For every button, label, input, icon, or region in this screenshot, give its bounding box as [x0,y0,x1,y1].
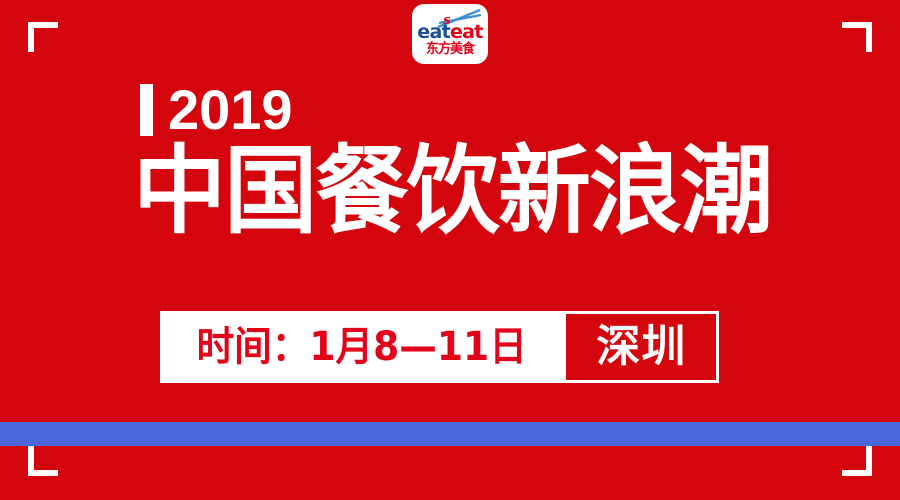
brand-logo: eateat s 东方美食 [412,4,488,64]
headline-title: 中国餐饮新浪潮 [133,143,771,239]
city-panel: 深圳 [563,311,719,383]
city-label: 深圳 [596,325,686,369]
promo-banner: eateat s 东方美食 2019 中国餐饮新浪潮 时间：1月8—11日 深圳 [0,0,900,500]
info-bar: 时间：1月8—11日 深圳 [160,311,719,383]
corner-bracket-bottom-right [842,446,872,476]
corner-bracket-top-left [28,22,58,52]
logo-wordmark: eateat s [417,23,482,42]
date-panel: 时间：1月8—11日 [160,311,563,383]
logo-superscript-s: s [443,14,450,27]
blue-accent-band [0,422,900,446]
logo-chinese-name: 东方美食 [426,43,474,57]
corner-bracket-bottom-left [28,446,58,476]
year-label: 2019 [168,82,293,138]
year-tick-mark [140,84,153,136]
date-label: 时间：1月8—11日 [197,327,527,367]
year-row: 2019 [140,82,293,138]
corner-bracket-top-right [842,22,872,52]
logo-eat-second: eat [450,21,483,43]
